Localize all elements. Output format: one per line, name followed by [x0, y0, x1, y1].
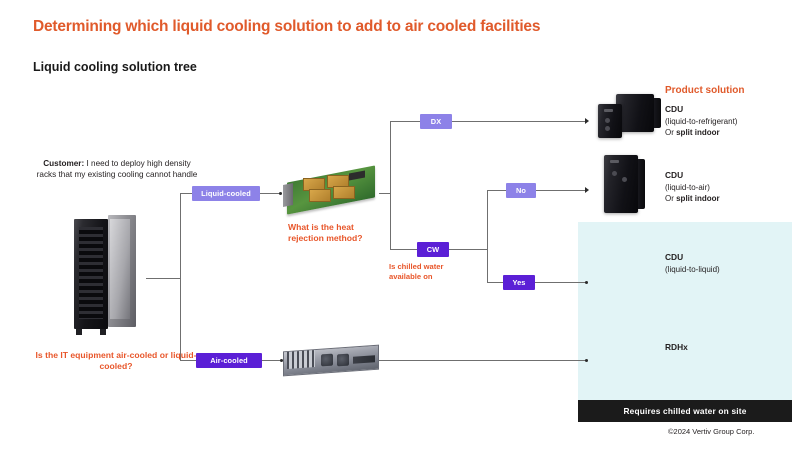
connector-air-to-server	[262, 360, 282, 361]
copyright-notice: ©2024 Vertiv Group Corp.	[668, 427, 754, 436]
connector-to-dx	[390, 121, 420, 122]
question-chilled-water: Is chilled water available on	[389, 262, 469, 281]
cold-plate	[309, 189, 331, 202]
product-name: CDU	[665, 170, 790, 182]
product-entry: CDU (liquid-to-liquid)	[665, 252, 790, 275]
node-yes[interactable]: Yes	[503, 275, 535, 290]
cabinet-led	[605, 126, 610, 131]
question-it-equipment: Is the IT equipment air-cooled or liquid…	[26, 350, 206, 372]
connector-board-stub	[379, 193, 390, 194]
cold-plate-board-image	[283, 168, 379, 216]
product-name: RDHx	[665, 342, 790, 354]
server-rack-image	[70, 215, 142, 335]
server-fan	[337, 354, 349, 367]
rack-vents	[79, 227, 103, 319]
connector-chilled-water-vertical	[487, 190, 488, 282]
connector-dot	[279, 192, 282, 195]
cold-plate	[333, 186, 355, 199]
connector-root-vertical-down	[180, 278, 181, 361]
node-dx[interactable]: DX	[420, 114, 452, 129]
connector-to-yes	[487, 282, 503, 283]
node-liquid-cooled[interactable]: Liquid-cooled	[192, 186, 260, 201]
server-drive-bays	[287, 350, 315, 369]
product-name: CDU	[665, 252, 790, 264]
connector-root-vertical-up	[180, 193, 181, 279]
product-detail: (liquid-to-liquid)	[665, 264, 790, 275]
product-alternative: Or split indoor	[665, 193, 790, 204]
cabinet-led	[612, 171, 617, 176]
product-entry: CDU (liquid-to-refrigerant) Or split ind…	[665, 104, 790, 139]
connector-liquid-to-board	[260, 193, 281, 194]
customer-callout: Customer: I need to deploy high density …	[33, 158, 201, 181]
product-entry: RDHx	[665, 342, 790, 354]
section-subtitle: Liquid cooling solution tree	[33, 60, 197, 74]
rack-side-panel	[108, 215, 136, 327]
rack-foot-right	[100, 329, 106, 335]
cabinet-side	[638, 159, 645, 209]
product-alt-value: split indoor	[676, 128, 720, 137]
cdu-cabinet	[604, 155, 638, 213]
slide-canvas: Determining which liquid cooling solutio…	[0, 0, 800, 450]
connector-to-cw	[390, 249, 417, 250]
connector-cw-stub	[449, 249, 487, 250]
cdu-indoor-unit	[598, 104, 622, 138]
cdu-liquid-to-refrigerant-image	[598, 94, 654, 140]
server-fan	[321, 354, 333, 367]
cdu-liquid-to-air-image	[604, 155, 638, 213]
cabinet-badge	[610, 160, 619, 163]
product-detail: (liquid-to-air)	[665, 182, 790, 193]
connector-dot	[585, 281, 588, 284]
connector-yes-to-product	[535, 282, 587, 283]
product-solution-header: Product solution	[665, 85, 744, 96]
product-alt-prefix: Or	[665, 128, 676, 137]
chilled-water-zone-panel	[578, 222, 792, 400]
connector-no-to-product	[536, 190, 587, 191]
product-alternative: Or split indoor	[665, 127, 790, 138]
pcb-bracket	[283, 183, 293, 207]
customer-label: Customer:	[43, 159, 84, 168]
product-alt-value: split indoor	[676, 194, 720, 203]
node-cw[interactable]: CW	[417, 242, 449, 257]
connector-heat-rejection-vertical	[390, 121, 391, 249]
connector-dot	[280, 359, 283, 362]
connector-arrow	[585, 187, 589, 193]
rack-server-image	[283, 345, 379, 377]
cabinet-side	[654, 98, 661, 128]
chilled-water-banner: Requires chilled water on site	[578, 400, 792, 422]
connector-arrow	[585, 118, 589, 124]
connector-dot	[585, 359, 588, 362]
page-title: Determining which liquid cooling solutio…	[33, 18, 540, 36]
product-alt-prefix: Or	[665, 194, 676, 203]
connector-root-stub	[146, 278, 180, 279]
cabinet-led	[622, 177, 627, 182]
cabinet-led	[605, 118, 610, 123]
rack-foot-left	[76, 329, 82, 335]
node-no[interactable]: No	[506, 183, 536, 198]
product-detail: (liquid-to-refrigerant)	[665, 116, 790, 127]
product-name: CDU	[665, 104, 790, 116]
question-heat-rejection: What is the heat rejection method?	[288, 222, 366, 244]
connector-dx-to-product	[452, 121, 587, 122]
cabinet-front	[604, 155, 638, 213]
connector-to-no	[487, 190, 506, 191]
cabinet-badge	[604, 109, 613, 112]
product-entry: CDU (liquid-to-air) Or split indoor	[665, 170, 790, 205]
connector-server-to-rdhx	[379, 360, 587, 361]
